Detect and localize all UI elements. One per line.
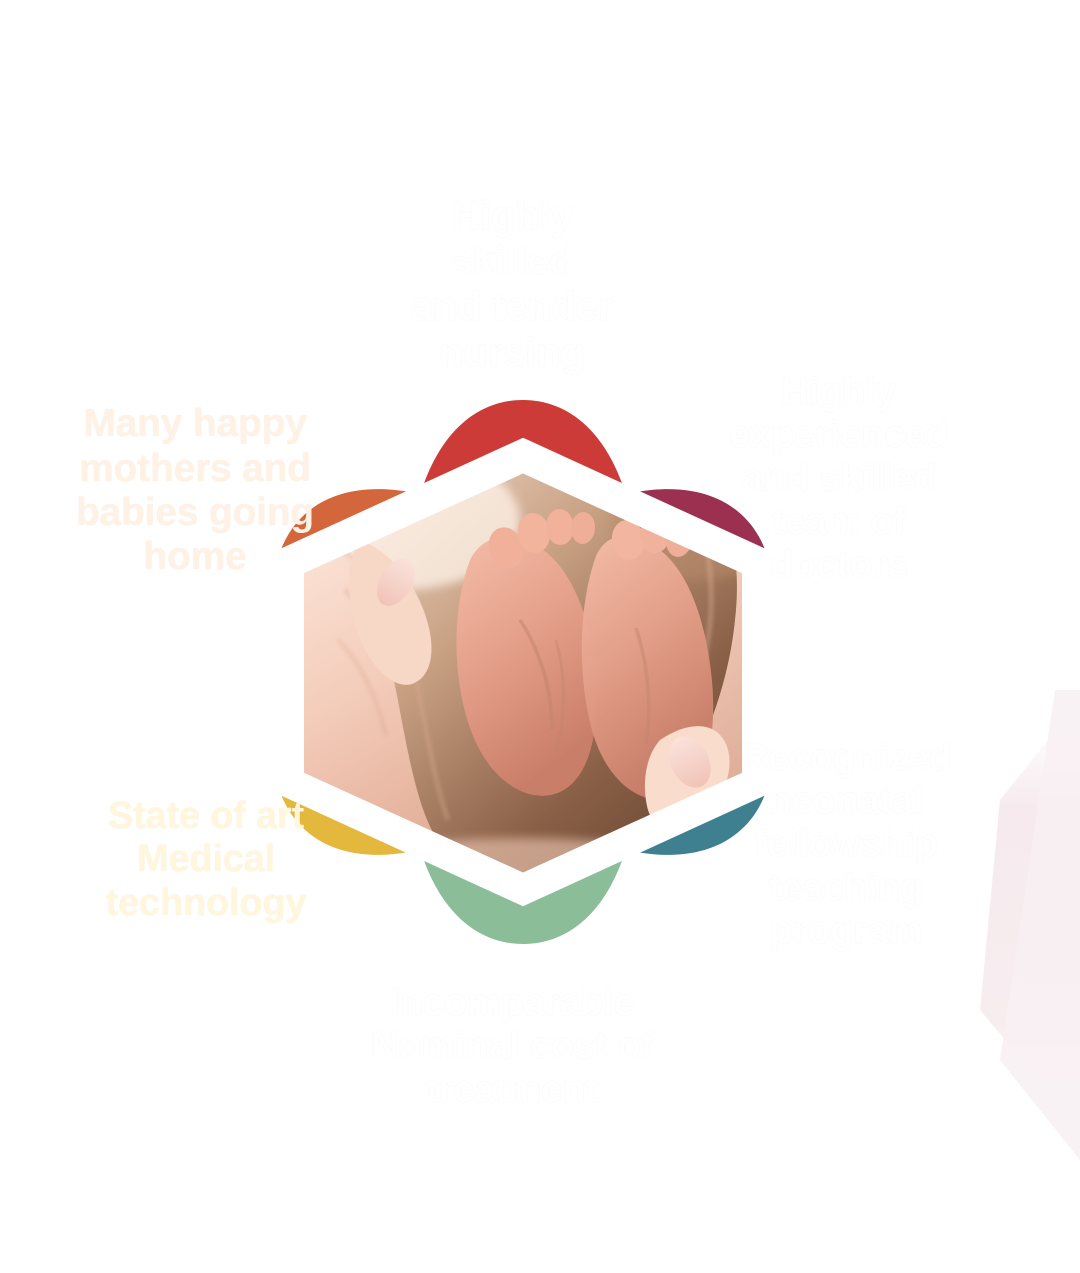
petal-label-fellowship: Recognized neonatal fellowship teaching …	[700, 715, 992, 975]
petal-label-technology: State of art Medical technology	[48, 770, 364, 950]
petal-label-discharge: Many happy mothers and babies going home	[36, 376, 354, 606]
infographic-canvas: Highly skilled and tender nursing Highly…	[0, 0, 1080, 1273]
petal-label-cost: Incomparable Nominal cost of treatment	[344, 962, 680, 1132]
petal-label-nursing: Highly skilled and tender nursing	[352, 160, 672, 410]
petal-label-doctors: Highly experienced and skilled team of d…	[686, 334, 992, 624]
